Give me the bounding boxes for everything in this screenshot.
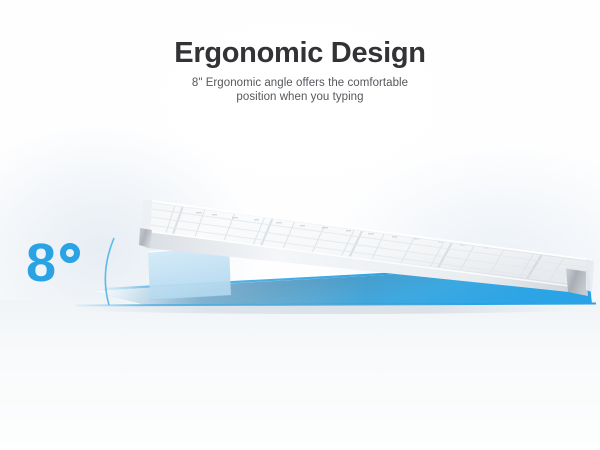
keyboard-deck	[146, 200, 592, 286]
keyboard-left-foot	[139, 228, 152, 248]
page-subtitle: 8" Ergonomic angle offers the comfortabl…	[0, 76, 600, 104]
keyboard-left-endcap	[140, 200, 152, 238]
wedge-top-edge	[104, 263, 589, 289]
keyboard-lip-highlight	[147, 231, 585, 288]
page-title: Ergonomic Design	[0, 36, 600, 70]
background-floor	[0, 300, 600, 450]
wedge-shape	[92, 264, 592, 306]
product-feature-graphic: Ergonomic Design 8" Ergonomic angle offe…	[0, 0, 600, 450]
floor-shadow	[80, 304, 580, 314]
keyboard-chassis-front	[143, 226, 588, 294]
angle-arc	[105, 238, 114, 305]
header-block: Ergonomic Design 8" Ergonomic angle offe…	[0, 36, 600, 104]
keyboard-right-foot	[566, 268, 588, 296]
angle-value: 8	[26, 238, 56, 288]
wedge-riser-panel	[148, 246, 231, 300]
angle-callout: 8	[26, 238, 80, 288]
keyboard-right-endcap	[586, 259, 594, 292]
horizontal-baseline	[76, 304, 596, 306]
keyboard-right-foot-highlight	[566, 268, 586, 271]
background-tint-right	[320, 140, 600, 380]
keyboard-top-highlight	[152, 201, 592, 260]
degree-symbol-icon	[60, 243, 80, 263]
subtitle-line-2: position when you typing	[236, 91, 363, 103]
keyboard-keys	[150, 198, 595, 288]
subtitle-line-1: 8" Ergonomic angle offers the comfortabl…	[192, 77, 408, 89]
